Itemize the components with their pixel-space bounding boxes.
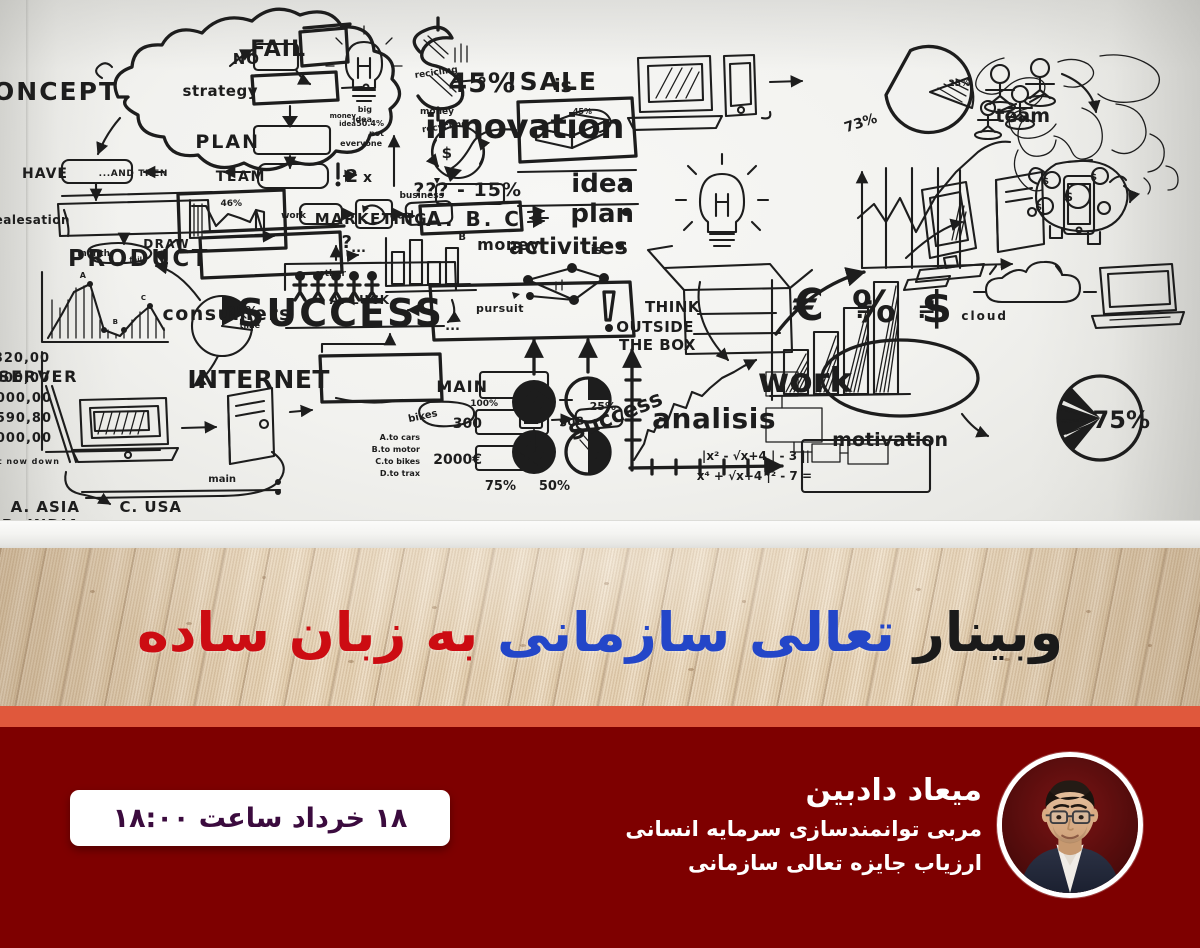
svg-text:75%: 75% bbox=[1093, 406, 1150, 434]
svg-text:50%: 50% bbox=[539, 479, 570, 494]
svg-text:2000€: 2000€ bbox=[433, 452, 482, 468]
svg-text:right now down: right now down bbox=[0, 457, 60, 466]
svg-text:SALE!: SALE! bbox=[506, 67, 598, 96]
svg-text:A.to cars: A.to cars bbox=[380, 433, 421, 442]
floor-shading bbox=[0, 548, 1200, 706]
svg-text:A. B. C.: A. B. C. bbox=[415, 207, 522, 231]
svg-text:analisis: analisis bbox=[652, 402, 776, 435]
svg-text:PRODUCT: PRODUCT bbox=[68, 246, 210, 272]
svg-text:73%: 73% bbox=[842, 111, 879, 137]
svg-text:E. 840.000,00: E. 840.000,00 bbox=[0, 431, 52, 446]
speaker-info: میعاد دادبین مربی توانمندسازی سرمایه انس… bbox=[422, 772, 982, 878]
svg-text:AND THEN...: AND THEN... bbox=[99, 169, 168, 179]
svg-text:= x⁴ + √x+4 |² - 7: = x⁴ + √x+4 |² - 7 bbox=[697, 469, 812, 483]
svg-text:LOADING TO SERVER: LOADING TO SERVER bbox=[0, 367, 78, 386]
svg-text:OUTSIDE: OUTSIDE bbox=[616, 318, 694, 336]
svg-text:B.to motor: B.to motor bbox=[372, 445, 420, 454]
svg-text:pursuit: pursuit bbox=[476, 302, 524, 315]
svg-text:idea: idea bbox=[339, 120, 356, 128]
svg-text:motivation: motivation bbox=[832, 429, 948, 451]
svg-text:75%: 75% bbox=[485, 479, 516, 494]
svg-text:$: $ bbox=[1043, 177, 1049, 187]
svg-text:D. 255.590,80: D. 255.590,80 bbox=[0, 411, 52, 426]
date-time-label: ۱۸ خرداد ساعت ۱۸:۰۰ bbox=[113, 803, 408, 834]
svg-text:CONCEPT: CONCEPT bbox=[0, 77, 118, 106]
svg-text:everyone: everyone bbox=[340, 139, 382, 148]
svg-text:innovation: innovation bbox=[425, 107, 624, 147]
speaker-name: میعاد دادبین bbox=[422, 772, 982, 810]
svg-text:100%: 100% bbox=[470, 399, 498, 409]
svg-text:B: B bbox=[113, 318, 118, 326]
svg-text:money: money bbox=[330, 112, 357, 120]
svg-text:THE BOX: THE BOX bbox=[619, 336, 696, 354]
svg-text:business: business bbox=[399, 191, 444, 201]
svg-text:...: ... bbox=[351, 241, 366, 256]
svg-text:Success: Success bbox=[565, 386, 666, 446]
svg-text:HAVE: HAVE bbox=[22, 166, 68, 182]
svg-text:...: ... bbox=[445, 319, 460, 334]
svg-text:x: x bbox=[363, 170, 372, 186]
whiteboard-wall: .s { fill:none; stroke:#1d1d1d; stroke-w… bbox=[0, 0, 1200, 534]
speaker-role-line-2: ارزیاب جایزه تعالی سازمانی bbox=[422, 848, 982, 878]
svg-text:main: main bbox=[208, 474, 236, 485]
svg-text:2: 2 bbox=[345, 166, 358, 187]
svg-text:A: A bbox=[80, 271, 87, 280]
svg-text:A. 640.320,00: A. 640.320,00 bbox=[0, 351, 50, 366]
svg-text:PLAN: PLAN bbox=[195, 131, 260, 153]
svg-text:Realesation: Realesation bbox=[0, 213, 70, 227]
svg-text:THINK: THINK bbox=[645, 298, 701, 316]
svg-text:other: other bbox=[319, 269, 347, 279]
svg-text:300: 300 bbox=[453, 416, 482, 432]
svg-text:work: work bbox=[758, 361, 854, 401]
svg-text:cloud: cloud bbox=[961, 309, 1008, 323]
svg-text:A. ASIA: A. ASIA bbox=[11, 498, 80, 516]
orange-divider-stripe bbox=[0, 706, 1200, 727]
svg-text:%: % bbox=[852, 282, 896, 333]
speaker-role-line-1: مربی توانمندسازی سرمایه انسانی bbox=[422, 814, 982, 844]
svg-text:activities: activities bbox=[509, 234, 628, 260]
svg-text:team: team bbox=[995, 105, 1050, 127]
date-time-badge[interactable]: ۱۸ خرداد ساعت ۱۸:۰۰ bbox=[70, 790, 450, 846]
svg-text:bikes: bikes bbox=[407, 408, 438, 425]
svg-text:C.to bikes: C.to bikes bbox=[375, 457, 420, 466]
svg-text:SUCCESS: SUCCESS bbox=[237, 291, 444, 335]
svg-text:D.to trax: D.to trax bbox=[380, 469, 421, 478]
svg-text:big: big bbox=[358, 105, 372, 114]
speaker-avatar bbox=[997, 752, 1143, 898]
whiteboard-sketch-illustration: .s { fill:none; stroke:#1d1d1d; stroke-w… bbox=[0, 0, 1200, 534]
svg-text:C: C bbox=[141, 294, 146, 302]
svg-text:strategy: strategy bbox=[183, 82, 258, 100]
svg-text:C. 286.000,00: C. 286.000,00 bbox=[0, 391, 52, 406]
svg-text:plan: plan bbox=[570, 199, 634, 229]
svg-text:€: € bbox=[792, 280, 824, 331]
speaker-avatar-photo bbox=[1002, 757, 1138, 893]
svg-text:work: work bbox=[281, 211, 307, 221]
svg-text:INTERNET: INTERNET bbox=[187, 365, 330, 394]
svg-text:idea: idea bbox=[571, 169, 634, 199]
webinar-poster: .s { fill:none; stroke:#1d1d1d; stroke-w… bbox=[0, 0, 1200, 948]
svg-text:$: $ bbox=[921, 282, 952, 333]
svg-text:FAIL: FAIL bbox=[250, 37, 306, 62]
svg-text:46%: 46% bbox=[220, 199, 242, 209]
svg-text:not: not bbox=[369, 129, 384, 138]
svg-text:25%: 25% bbox=[948, 79, 970, 89]
svg-text:MAIN: MAIN bbox=[436, 377, 488, 396]
svg-text:C. USA: C. USA bbox=[119, 498, 182, 516]
svg-text:MARKETING: MARKETING bbox=[315, 210, 428, 228]
